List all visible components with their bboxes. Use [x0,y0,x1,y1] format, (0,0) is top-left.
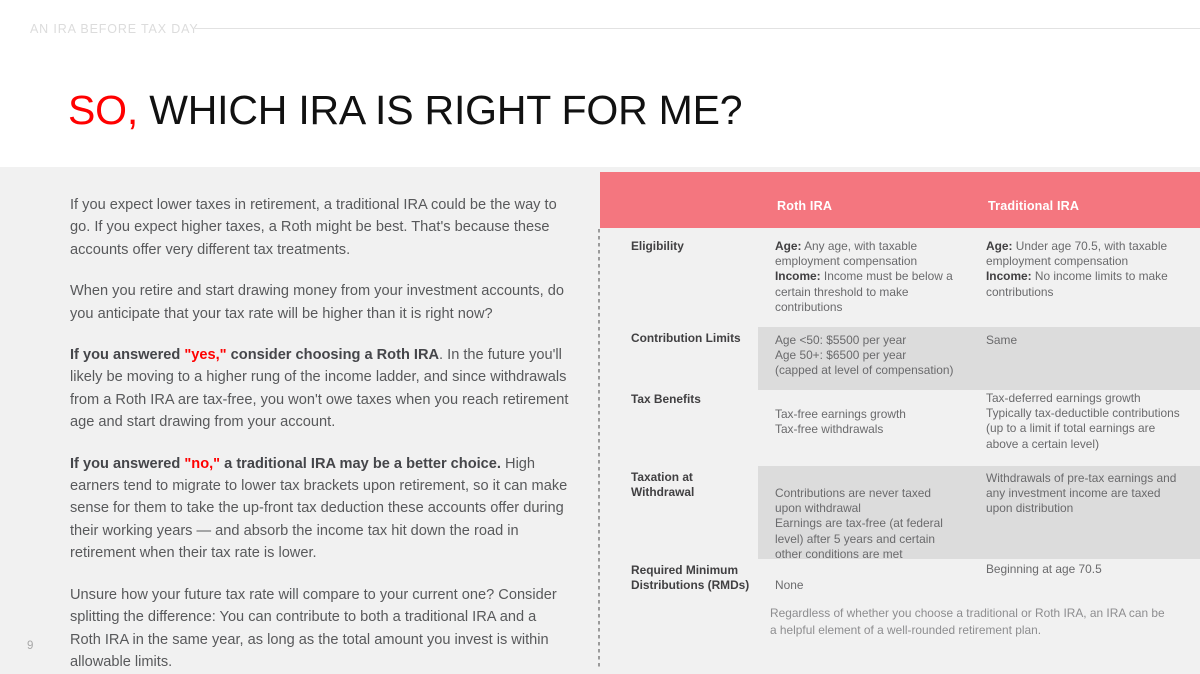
cell-taxation-roth: Contributions are never taxed upon withd… [775,486,960,562]
cell-key-income: Income: [986,269,1032,283]
paragraph-4-no-highlight: "no," [184,456,220,472]
page-title-accent: SO, [68,87,138,133]
paragraph-4-lead-a: If you answered [70,456,184,472]
paragraph-5: Unsure how your future tax rate will com… [70,584,570,674]
article-body: If you expect lower taxes in retirement,… [70,194,570,673]
cell-tax-benefits-roth: Tax-free earnings growth Tax-free withdr… [775,407,960,437]
paragraph-3-lead-b: consider choosing a Roth IRA [227,347,439,363]
row-label-contribution-limits: Contribution Limits [631,331,756,346]
row-label-required-minimum-distributions: Required Minimum Distributions (RMDs) [631,563,756,593]
cell-contribution-roth: Age <50: $5500 per year Age 50+: $6500 p… [775,333,960,379]
page-title-rest: WHICH IRA IS RIGHT FOR ME? [138,87,742,133]
cell-key-age: Age: [986,239,1012,253]
paragraph-4-lead-b: a traditional IRA may be a better choice… [220,456,501,472]
cell-eligibility-traditional: Age: Under age 70.5, with taxable employ… [986,239,1186,300]
paragraph-4: If you answered "no," a traditional IRA … [70,453,570,565]
table-footnote: Regardless of whether you choose a tradi… [770,605,1170,638]
cell-key-income: Income: [775,269,821,283]
paragraph-3-yes-highlight: "yes," [184,347,226,363]
cell-val-age: Under age 70.5, with taxable employment … [986,239,1167,268]
cell-key-age: Age: [775,239,801,253]
paragraph-3-lead-a: If you answered [70,347,184,363]
cell-rmd-roth: None [775,578,960,593]
row-label-eligibility: Eligibility [631,239,756,254]
slide-canvas: AN IRA BEFORE TAX DAY SO, WHICH IRA IS R… [0,0,1200,674]
paragraph-1: If you expect lower taxes in retirement,… [70,194,570,261]
cell-taxation-traditional: Withdrawals of pre-tax earnings and any … [986,471,1186,517]
paragraph-2: When you retire and start drawing money … [70,280,570,325]
row-label-taxation-at-withdrawal: Taxation at Withdrawal [631,470,756,500]
table-header-row: Roth IRA Traditional IRA [600,172,1200,228]
cell-eligibility-roth: Age: Any age, with taxable employment co… [775,239,960,315]
ira-comparison-table: Roth IRA Traditional IRA Eligibility Age… [598,167,1200,674]
slide-body: If you expect lower taxes in retirement,… [0,167,1200,674]
cell-tax-benefits-traditional: Tax-deferred earnings growth Typically t… [986,391,1186,452]
cell-rmd-traditional: Beginning at age 70.5 [986,562,1186,577]
column-header-traditional: Traditional IRA [988,199,1079,213]
slide-header-band: AN IRA BEFORE TAX DAY SO, WHICH IRA IS R… [0,0,1200,167]
column-header-roth: Roth IRA [777,199,832,213]
page-title: SO, WHICH IRA IS RIGHT FOR ME? [68,85,742,135]
page-number: 9 [27,640,33,652]
cell-contribution-traditional: Same [986,333,1186,348]
paragraph-3: If you answered "yes," consider choosing… [70,344,570,434]
eyebrow-label: AN IRA BEFORE TAX DAY [30,22,199,36]
row-label-tax-benefits: Tax Benefits [631,392,756,407]
header-rule [195,28,1200,29]
